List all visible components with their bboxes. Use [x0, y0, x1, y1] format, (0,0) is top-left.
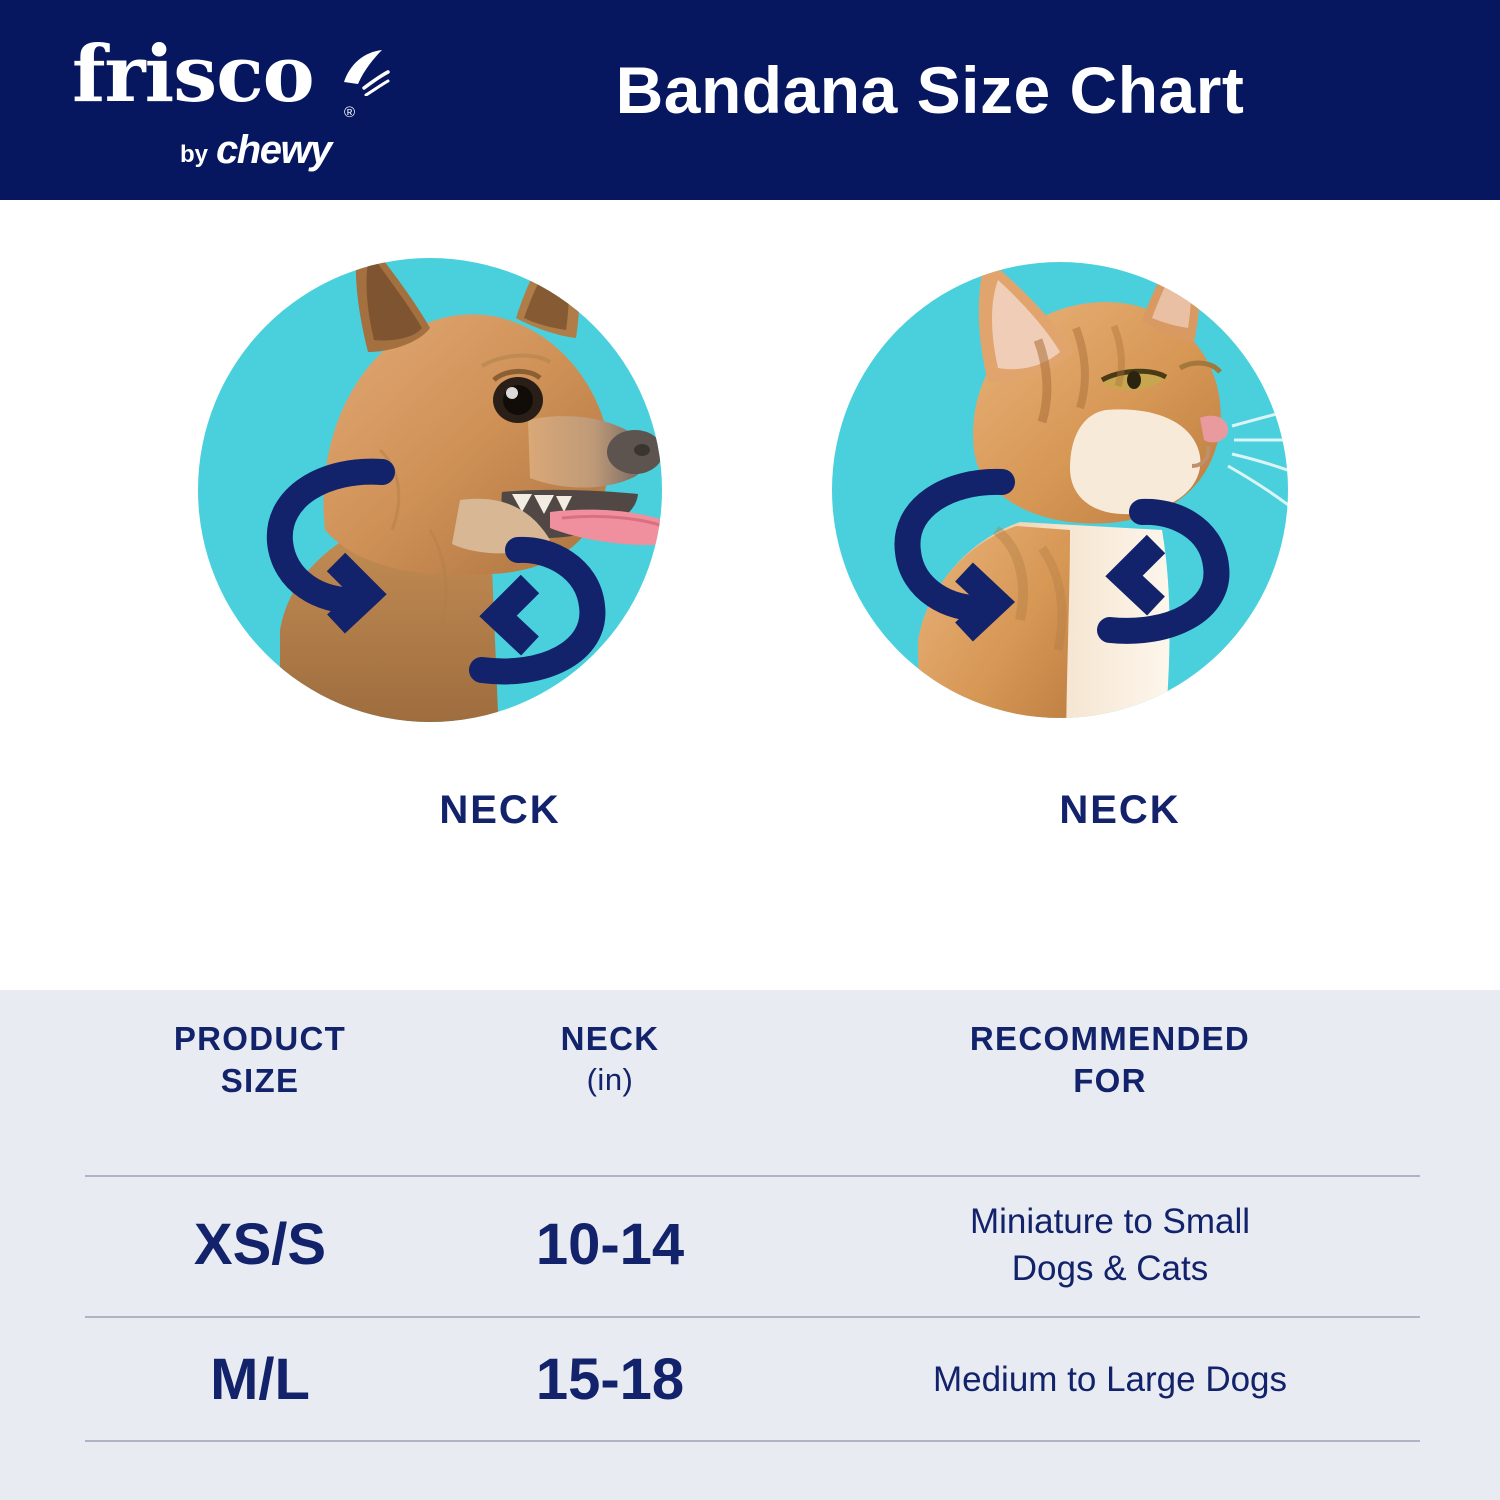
- brand-by-label: by: [180, 143, 208, 170]
- recommended-line2: FOR: [1073, 1062, 1147, 1099]
- cell-product-size: XS/S: [100, 1215, 420, 1276]
- frisco-swoosh-icon: [330, 48, 390, 96]
- frisco-by-chewy-logo: frisco ® by chewy: [72, 32, 382, 172]
- column-header-product-size: PRODUCT SIZE: [100, 1018, 420, 1102]
- cell-recommended-for: Medium to Large Dogs: [830, 1357, 1390, 1403]
- column-header-neck: NECK (in): [470, 1018, 750, 1100]
- product-size-line1: PRODUCT: [174, 1020, 346, 1057]
- column-header-recommended-for: RECOMMENDED FOR: [830, 1018, 1390, 1102]
- neck-header-unit: (in): [470, 1060, 750, 1100]
- brand-subline: by chewy: [180, 130, 331, 170]
- table-row: XS/S 10-14 Miniature to Small Dogs & Cat…: [0, 1178, 1500, 1313]
- table-divider: [85, 1440, 1420, 1442]
- cell-recommended-for: Miniature to Small Dogs & Cats: [830, 1199, 1390, 1291]
- cat-neck-label: NECK: [880, 788, 1360, 833]
- table-header-row: PRODUCT SIZE NECK (in) RECOMMENDED FOR: [0, 1018, 1500, 1148]
- recommended-text-line1: Medium to Large Dogs: [933, 1360, 1287, 1399]
- page-title: Bandana Size Chart: [430, 54, 1430, 127]
- product-size-line2: SIZE: [221, 1062, 300, 1099]
- table-divider: [85, 1316, 1420, 1318]
- cell-neck-range: 10-14: [470, 1215, 750, 1276]
- illustration-area: NECK: [0, 200, 1500, 990]
- dog-illustration-block: NECK: [130, 200, 730, 900]
- recommended-text-line2: Dogs & Cats: [1012, 1249, 1208, 1288]
- neck-header-label: NECK: [561, 1020, 660, 1057]
- cell-neck-range: 15-18: [470, 1350, 750, 1411]
- dog-neck-label: NECK: [260, 788, 740, 833]
- dog-head-icon: [130, 200, 730, 760]
- recommended-text-line1: Miniature to Small: [970, 1202, 1250, 1241]
- recommended-line1: RECOMMENDED: [970, 1020, 1250, 1057]
- cat-head-icon: [770, 200, 1370, 760]
- dog-figure: [130, 200, 730, 760]
- cat-figure: [770, 200, 1370, 760]
- cat-illustration-block: NECK: [770, 200, 1370, 900]
- cell-product-size: M/L: [100, 1350, 420, 1411]
- brand-wordmark: frisco: [72, 36, 314, 114]
- size-chart-page: frisco ® by chewy Bandana Size Chart: [0, 0, 1500, 1500]
- brand-registered-mark: ®: [344, 104, 355, 121]
- brand-parent-label: chewy: [216, 130, 331, 170]
- table-row: M/L 15-18 Medium to Large Dogs: [0, 1320, 1500, 1440]
- header-bar: frisco ® by chewy Bandana Size Chart: [0, 0, 1500, 200]
- table-divider: [85, 1175, 1420, 1177]
- size-table: PRODUCT SIZE NECK (in) RECOMMENDED FOR: [0, 990, 1500, 1500]
